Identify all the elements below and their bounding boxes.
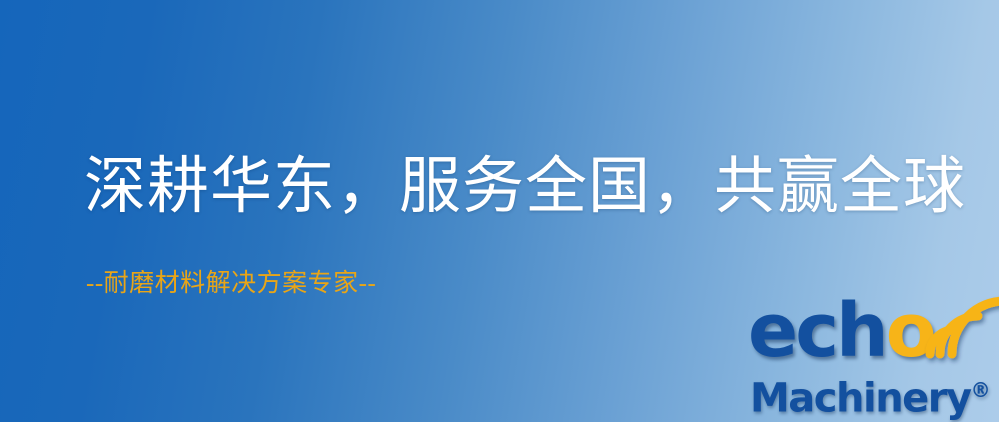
- signal-waves-icon: [918, 288, 999, 362]
- logo-subword: Machinery®: [750, 370, 991, 418]
- banner-headline: 深耕华东，服务全国，共赢全球: [84, 152, 966, 222]
- company-logo[interactable]: echo Machinery®: [748, 292, 994, 418]
- hero-banner: 深耕华东，服务全国，共赢全球 --耐磨材料解决方案专家-- echo Machi…: [0, 0, 999, 422]
- logo-subword-text: Machinery: [750, 375, 971, 421]
- logo-word-prefix: ech: [748, 288, 886, 374]
- registered-trademark-icon: ®: [971, 378, 991, 402]
- banner-subtitle: --耐磨材料解决方案专家--: [86, 268, 376, 300]
- logo-wordmark: echo: [748, 294, 937, 368]
